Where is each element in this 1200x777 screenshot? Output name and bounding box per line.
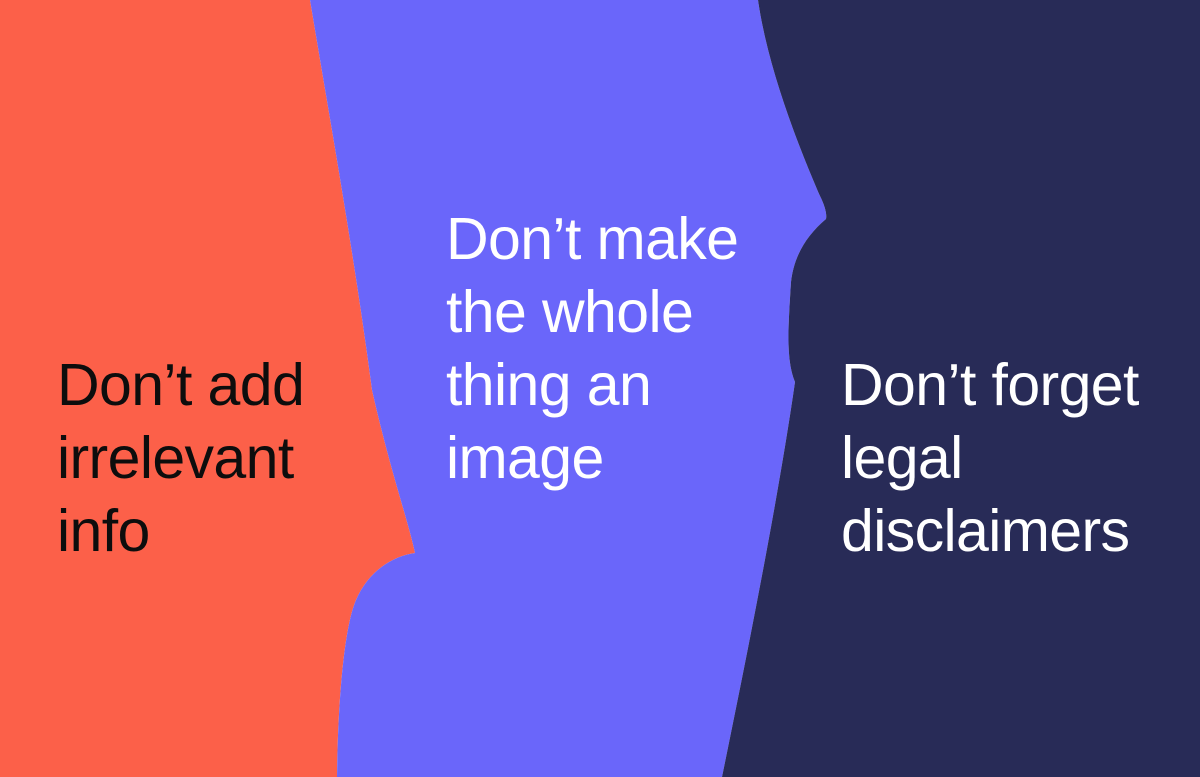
panel-label-whole-image: Don’t make the whole thing an image — [446, 203, 776, 495]
panel-label-irrelevant-info: Don’t add irrelevant info — [57, 349, 357, 568]
poster-canvas: Don’t add irrelevant info Don’t make the… — [0, 0, 1200, 777]
panel-label-legal-disclaimers: Don’t forget legal disclaimers — [841, 349, 1181, 568]
